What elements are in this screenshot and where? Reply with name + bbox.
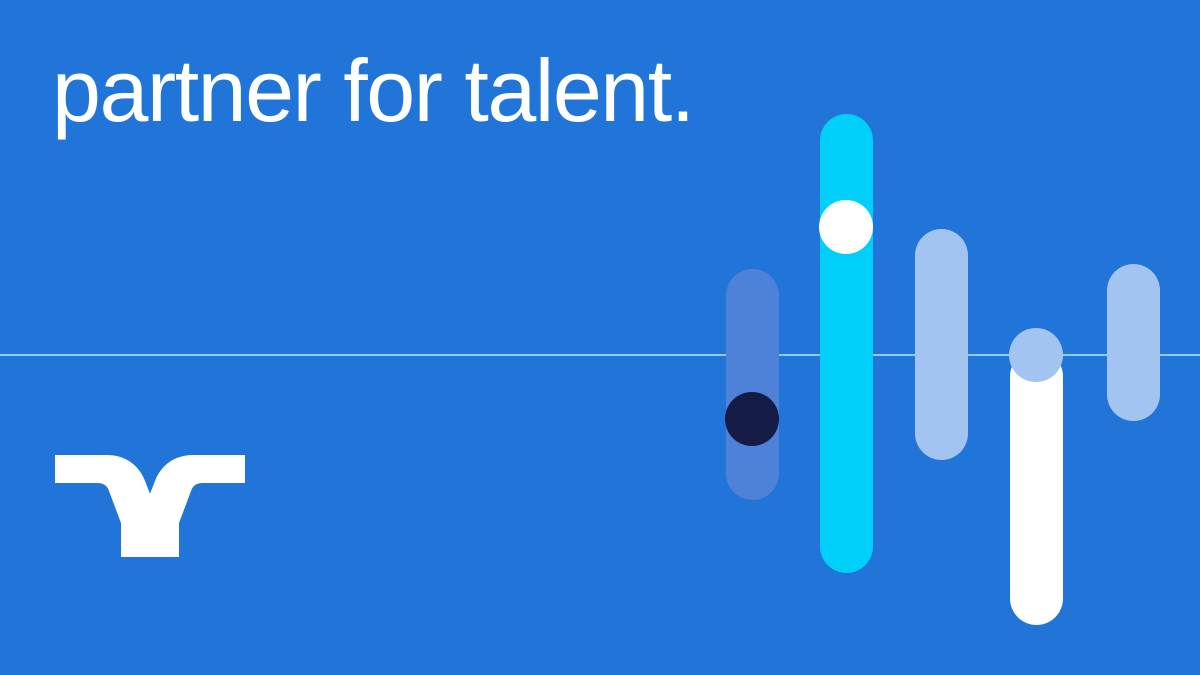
bar-5: [1107, 264, 1160, 421]
bar-3: [915, 229, 968, 460]
dot-white: [819, 200, 873, 254]
dot-navy: [725, 392, 779, 446]
bar-2: [820, 114, 873, 573]
bar-1: [726, 269, 779, 500]
randstad-y-mark-icon: [55, 455, 245, 557]
randstad-brand-banner: partner for talent. randstad: [0, 0, 1200, 675]
bar-4: [1010, 350, 1063, 625]
dot-light-blue: [1009, 328, 1063, 382]
randstad-logo: randstad: [55, 455, 305, 630]
